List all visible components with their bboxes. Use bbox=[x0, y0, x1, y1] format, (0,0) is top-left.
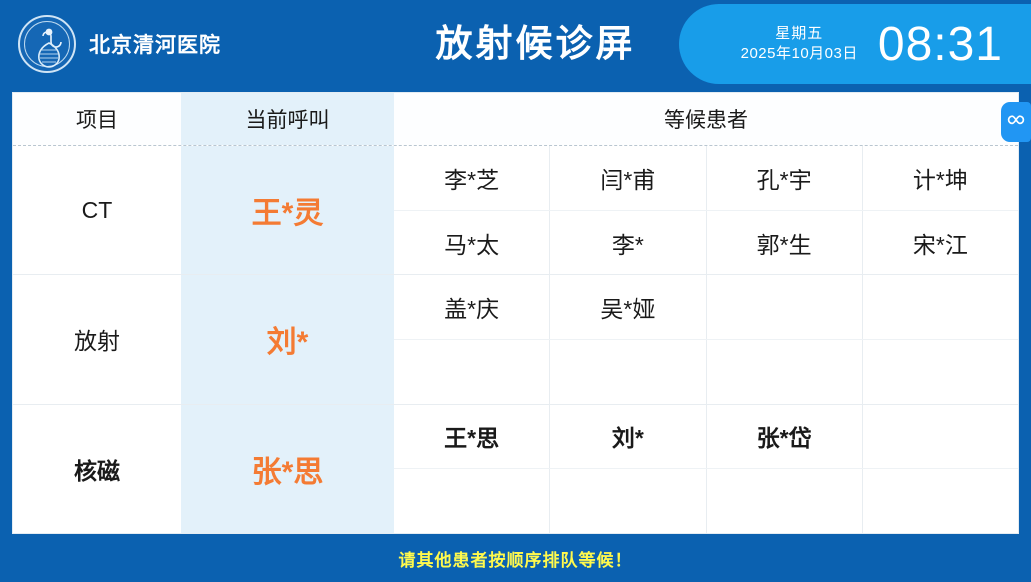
table-header-row: 项目 当前呼叫 等候患者 bbox=[13, 93, 1018, 146]
waiting-line: 马*太 李* 郭*生 宋*江 bbox=[394, 211, 1018, 275]
waiting-patient: 马*太 bbox=[394, 211, 550, 275]
waiting-line: 王*思 刘* 张*岱 bbox=[394, 405, 1018, 470]
queue-table: 项目 当前呼叫 等候患者 CT 王*灵 李*芝 闫*甫 孔*宇 计*坤 马*太 … bbox=[12, 92, 1019, 534]
date-label: 2025年10月03日 bbox=[741, 44, 858, 64]
hospital-emblem-icon bbox=[18, 15, 76, 73]
waiting-line bbox=[394, 340, 1018, 404]
brand-name: 北京清河医院 bbox=[89, 29, 221, 59]
waiting-patient bbox=[863, 275, 1018, 339]
waiting-patient: 李* bbox=[550, 211, 706, 275]
waiting-patient: 张*岱 bbox=[707, 405, 863, 469]
date-block: 星期五 2025年10月03日 bbox=[741, 24, 858, 65]
waiting-patient bbox=[863, 469, 1018, 533]
column-header-calling: 当前呼叫 bbox=[181, 93, 394, 145]
row-waiting-grid: 盖*庆 吴*娅 bbox=[394, 275, 1018, 403]
row-item-name: 核磁 bbox=[13, 405, 181, 533]
table-row: 放射 刘* 盖*庆 吴*娅 bbox=[13, 275, 1018, 404]
column-header-item: 项目 bbox=[13, 93, 181, 145]
row-waiting-grid: 王*思 刘* 张*岱 bbox=[394, 405, 1018, 533]
column-header-waiting: 等候患者 bbox=[394, 93, 1018, 145]
row-calling-name: 刘* bbox=[181, 275, 394, 403]
waiting-patient: 盖*庆 bbox=[394, 275, 550, 339]
brand: 北京清河医院 bbox=[0, 15, 221, 73]
waiting-patient bbox=[707, 469, 863, 533]
waiting-patient bbox=[707, 275, 863, 339]
waiting-patient: 孔*宇 bbox=[707, 146, 863, 210]
row-item-name: CT bbox=[13, 146, 181, 274]
table-row: CT 王*灵 李*芝 闫*甫 孔*宇 计*坤 马*太 李* 郭*生 宋*江 bbox=[13, 146, 1018, 275]
row-calling-name: 张*思 bbox=[181, 405, 394, 533]
waiting-patient: 王*思 bbox=[394, 405, 550, 469]
clock-time: 08:31 bbox=[878, 17, 1003, 72]
waiting-patient bbox=[394, 340, 550, 404]
table-row: 核磁 张*思 王*思 刘* 张*岱 bbox=[13, 405, 1018, 533]
waiting-patient: 郭*生 bbox=[707, 211, 863, 275]
row-calling-name: 王*灵 bbox=[181, 146, 394, 274]
floating-assistant-button[interactable] bbox=[1001, 102, 1031, 142]
waiting-patient: 吴*娅 bbox=[550, 275, 706, 339]
footer-notice-bar: 请其他患者按顺序排队等候！ bbox=[0, 534, 1031, 582]
notice-text: 请其他患者按顺序排队等候！ bbox=[399, 546, 633, 571]
clock-panel: 星期五 2025年10月03日 08:31 bbox=[679, 4, 1031, 84]
app-header: 放射候诊屏 北京清河医 bbox=[0, 0, 1031, 88]
waiting-patient bbox=[550, 340, 706, 404]
waiting-patient bbox=[863, 405, 1018, 469]
waiting-line: 盖*庆 吴*娅 bbox=[394, 275, 1018, 340]
row-waiting-grid: 李*芝 闫*甫 孔*宇 计*坤 马*太 李* 郭*生 宋*江 bbox=[394, 146, 1018, 274]
table-body: CT 王*灵 李*芝 闫*甫 孔*宇 计*坤 马*太 李* 郭*生 宋*江 放射 bbox=[13, 146, 1018, 533]
weekday-label: 星期五 bbox=[775, 24, 823, 44]
waiting-patient: 计*坤 bbox=[863, 146, 1018, 210]
infinity-loop-icon bbox=[1006, 113, 1026, 132]
waiting-patient bbox=[707, 340, 863, 404]
waiting-patient bbox=[394, 469, 550, 533]
waiting-patient: 李*芝 bbox=[394, 146, 550, 210]
row-item-name: 放射 bbox=[13, 275, 181, 403]
waiting-patient: 宋*江 bbox=[863, 211, 1018, 275]
waiting-patient: 闫*甫 bbox=[550, 146, 706, 210]
waiting-line: 李*芝 闫*甫 孔*宇 计*坤 bbox=[394, 146, 1018, 211]
waiting-patient bbox=[863, 340, 1018, 404]
waiting-line bbox=[394, 469, 1018, 533]
waiting-patient bbox=[550, 469, 706, 533]
waiting-patient: 刘* bbox=[550, 405, 706, 469]
